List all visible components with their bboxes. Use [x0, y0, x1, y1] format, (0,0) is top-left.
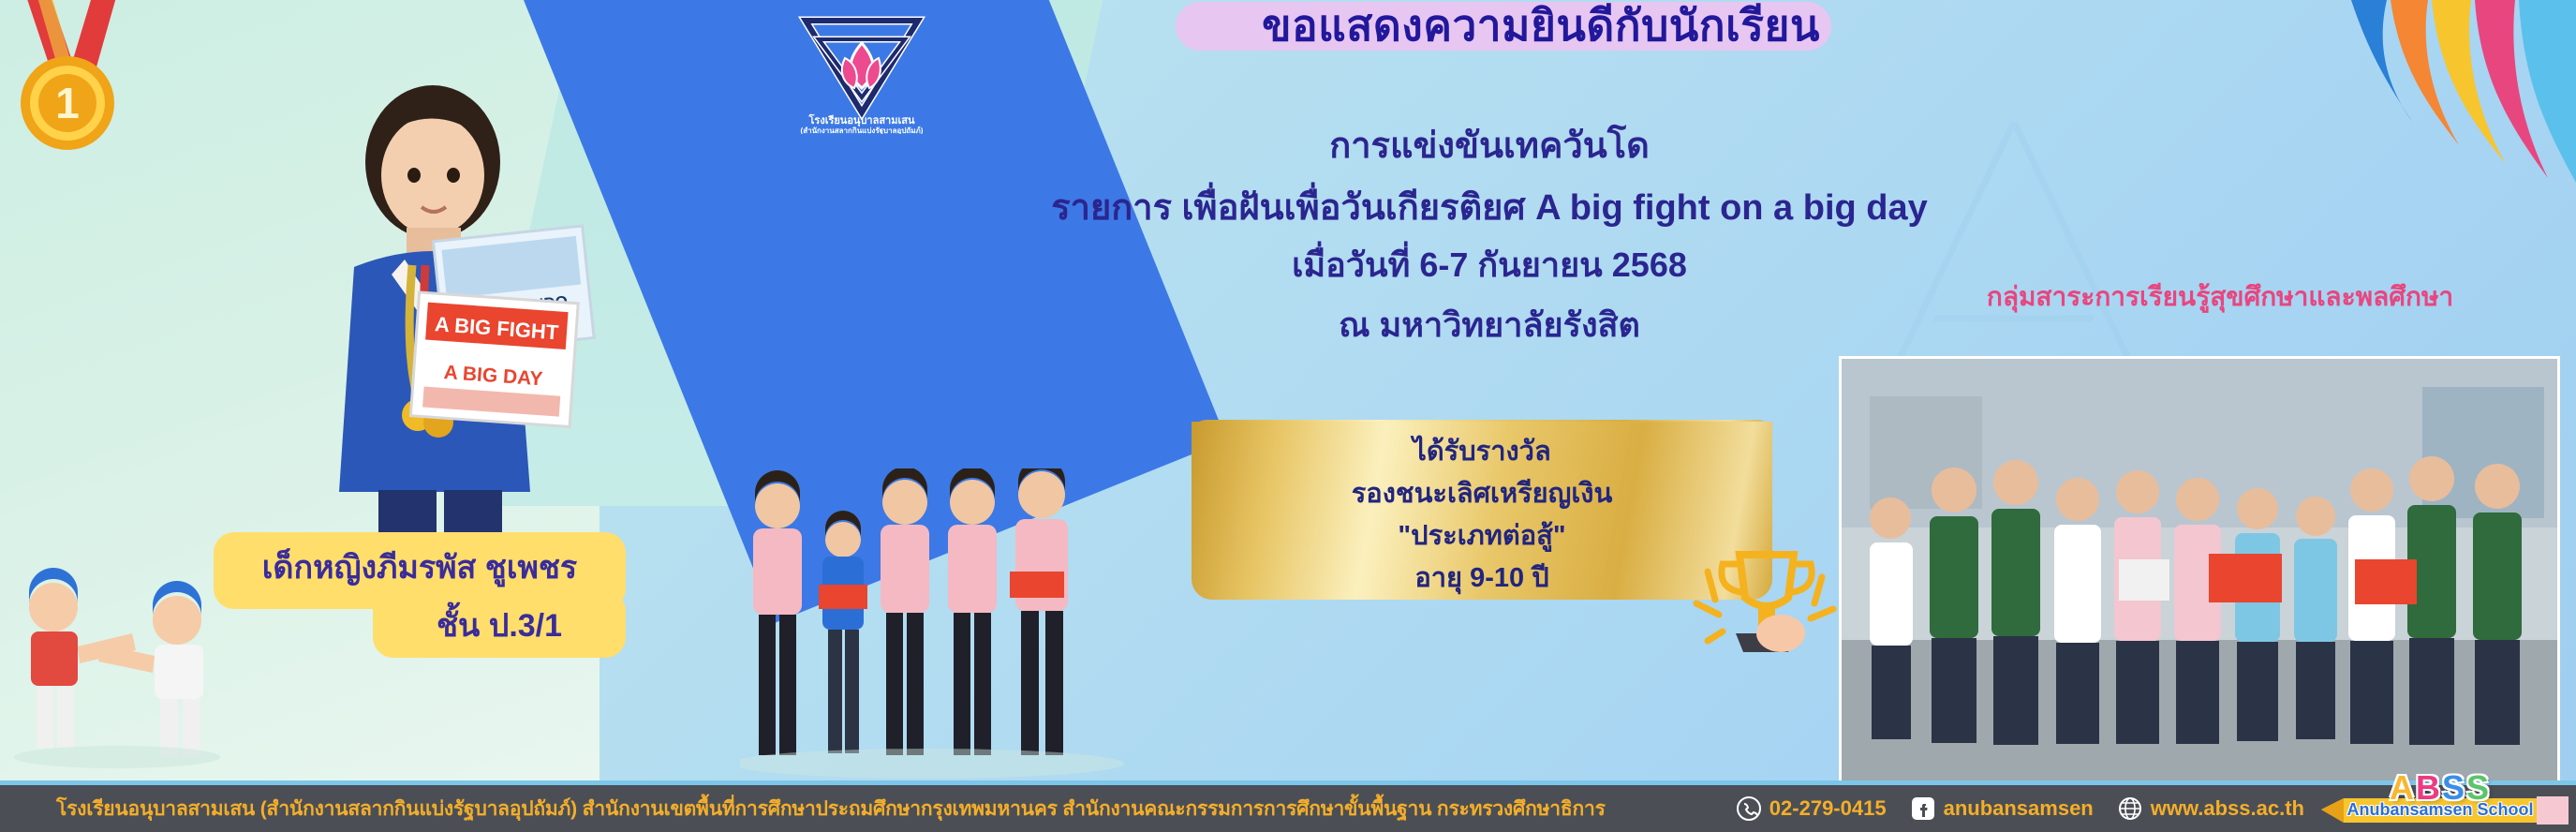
award-line-4: อายุ 9-10 ปี	[1192, 557, 1772, 600]
page-title: ขอแสดงความยินดีกับนักเรียน	[1138, 0, 1944, 52]
facebook-handle: anubansamsen	[1944, 796, 2094, 821]
crest-school-name: โรงเรียนอนุบาลสามเสน	[808, 113, 915, 127]
award-line-3: "ประเภทต่อสู้"	[1192, 515, 1772, 557]
footer-bar: โรงเรียนอนุบาลสามเสน (สำนักงานสลากกินแบ่…	[0, 785, 2576, 832]
event-date: เมื่อวันที่ 6-7 กันยายน 2568	[993, 238, 1986, 291]
award-text: ได้รับรางวัล รองชนะเลิศเหรียญเงิน "ประเภ…	[1192, 431, 1772, 600]
teachers-group-illustration	[740, 468, 1133, 792]
phone-icon	[1737, 796, 1761, 821]
footer-organizations: โรงเรียนอนุบาลสามเสน (สำนักงานสลากกินแบ่…	[0, 794, 1606, 825]
contact-facebook[interactable]: anubansamsen	[1911, 796, 2094, 821]
facebook-icon	[1911, 796, 1935, 821]
competition-name: การแข่งขันเทควันโด	[974, 116, 2005, 173]
abss-subtitle: Anubansamsen School	[2316, 800, 2565, 820]
school-crest-logo: โรงเรียนอนุบาลสามเสน (สำนักงานสลากกินแบ่…	[777, 7, 946, 134]
website-url: www.abss.ac.th	[2151, 796, 2304, 821]
medal-icon: 1	[7, 0, 129, 159]
student-name: เด็กหญิงภีมรพัส ชูเพชร	[214, 542, 626, 592]
group-photo	[1839, 356, 2560, 787]
student-class: ชั้น ป.3/1	[373, 600, 626, 650]
group-photo-illustration	[1842, 359, 2560, 787]
globe-icon	[2118, 796, 2142, 821]
medal-number: 1	[55, 79, 80, 127]
contact-phone[interactable]: 02-279-0415	[1737, 796, 1887, 821]
phone-number: 02-279-0415	[1769, 796, 1887, 821]
award-line-2: รองชนะเลิศเหรียญเงิน	[1192, 473, 1772, 515]
contact-website[interactable]: www.abss.ac.th	[2118, 796, 2304, 821]
flame-burst-icon	[2239, 0, 2576, 215]
event-venue: ณ มหาวิทยาลัยรังสิต	[993, 298, 1986, 351]
congratulations-banner: 1 โรงเรียนอนุบาลสามเสน (สำนักงานสลากกินแ…	[0, 0, 2576, 832]
program-name: รายการ เพื่อฝันเพื่อวันเกียรติยศ A big f…	[824, 178, 2154, 235]
crest-school-subname: (สำนักงานสลากกินแบ่งรัฐบาลอุปถัมภ์)	[801, 126, 924, 134]
student-photo: TAEKWONDO A BIG FIGHT A BIG DAY	[302, 52, 611, 562]
footer-contacts: 02-279-0415 anubansamsen www.abss.ac.th	[1737, 785, 2304, 832]
trophy-icon	[1691, 543, 1841, 684]
department-label: กลุ่มสาระการเรียนรู้สุขศึกษาและพลศึกษา	[1930, 276, 2510, 318]
award-line-1: ได้รับรางวัล	[1192, 431, 1772, 473]
taekwondo-kids-illustration	[5, 562, 229, 782]
